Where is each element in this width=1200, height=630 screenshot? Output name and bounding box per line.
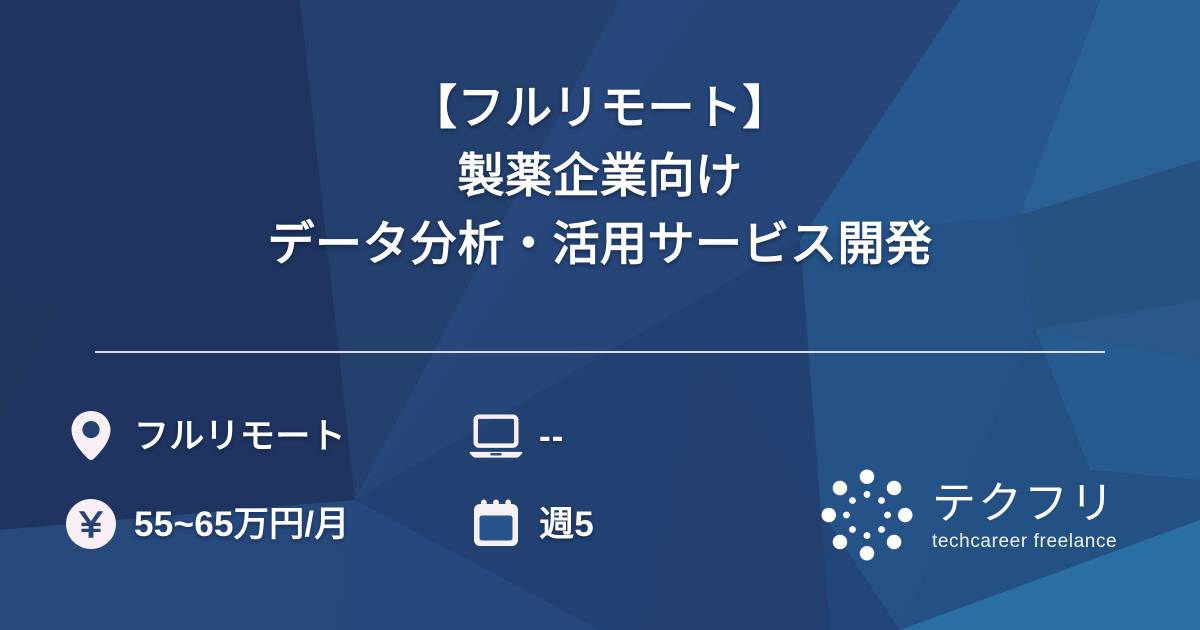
meta-item-location: フルリモート [64, 409, 469, 463]
laptop-icon [469, 409, 523, 463]
meta-label-location: フルリモート [134, 419, 346, 454]
meta-label-pay: 55~65万円/月 [134, 507, 350, 542]
job-posting-card: 【フルリモート】 製薬企業向け データ分析・活用サービス開発 フルリモート [0, 0, 1200, 630]
dot-constellation-icon [818, 466, 916, 564]
meta-item-days: 週5 [469, 497, 594, 551]
job-meta-grid: フルリモート -- 55~65万円/月 [64, 392, 594, 568]
title-line-2: 製薬企業向け [0, 142, 1200, 210]
logo-wordmark: テクフリ [932, 478, 1116, 530]
yen-coin-icon [64, 497, 118, 551]
calendar-icon [469, 497, 523, 551]
meta-label-days: 週5 [539, 507, 594, 542]
map-pin-icon [64, 409, 118, 463]
divider [95, 351, 1105, 353]
logo-text-group: テクフリ techcareer freelance [932, 478, 1117, 553]
logo-tagline: techcareer freelance [932, 531, 1117, 553]
brand-logo: テクフリ techcareer freelance [818, 466, 1117, 564]
meta-item-workstyle: -- [469, 409, 594, 463]
meta-item-pay: 55~65万円/月 [64, 497, 469, 551]
meta-label-workstyle: -- [539, 419, 564, 454]
title-line-3: データ分析・活用サービス開発 [0, 210, 1200, 278]
title-line-1: 【フルリモート】 [0, 74, 1200, 142]
title-block: 【フルリモート】 製薬企業向け データ分析・活用サービス開発 [0, 74, 1200, 278]
